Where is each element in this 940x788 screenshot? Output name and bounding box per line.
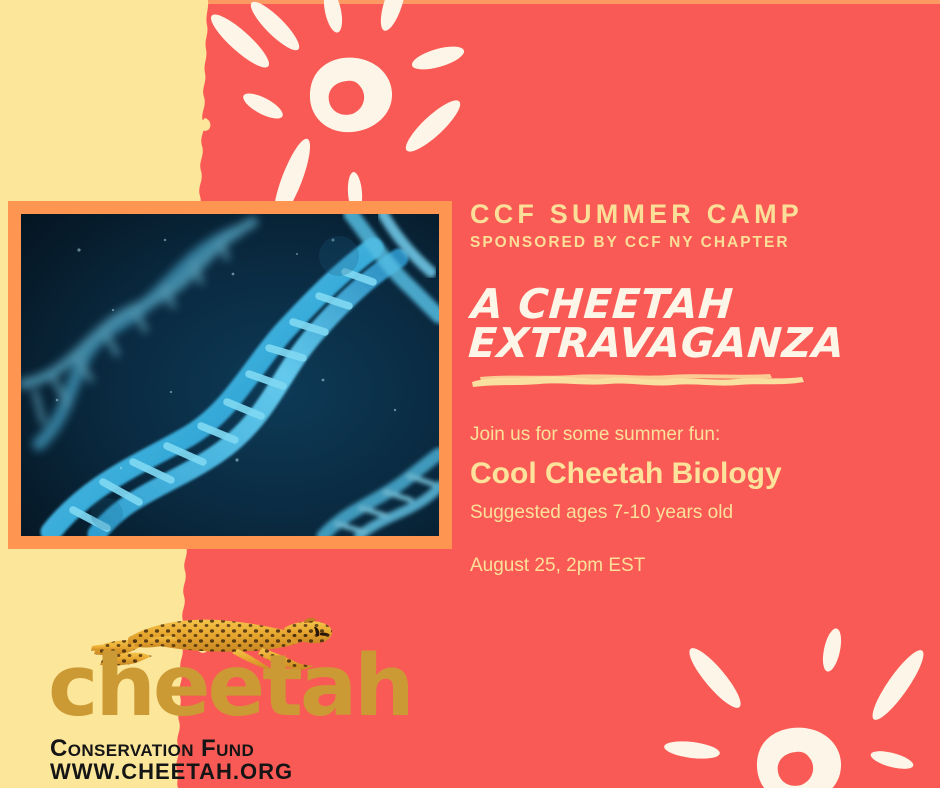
lead-text: Join us for some summer fun:	[470, 423, 910, 447]
page-title: A CHEETAH EXTRAVAGANZA	[467, 285, 912, 362]
eyebrow-title: CCF SUMMER CAMP	[470, 200, 910, 229]
headline-line-2: EXTRAVAGANZA	[467, 324, 910, 363]
poster-canvas: CCF SUMMER CAMP SPONSORED BY CCF NY CHAP…	[0, 0, 940, 788]
event-datetime: August 25, 2pm EST	[470, 554, 910, 578]
logo-url: WWW.CHEETAH.ORG	[50, 760, 293, 783]
feature-title: Cool Cheetah Biology	[470, 456, 910, 492]
suggested-ages: Suggested ages 7-10 years old	[470, 501, 910, 525]
sunburst-bottom-icon	[640, 600, 940, 788]
logo-wordmark: cheetah	[48, 644, 412, 729]
eyebrow-subtitle: SPONSORED BY CCF NY CHAPTER	[470, 234, 910, 251]
dna-photo	[21, 214, 439, 536]
logo-subtitle: Conservation Fund	[50, 736, 254, 761]
brush-underline-icon	[470, 371, 805, 389]
ccf-logo: cheetah Conservation Fund WWW.CHEETAH.OR…	[38, 608, 338, 784]
photo-frame	[8, 201, 452, 549]
copy-column: CCF SUMMER CAMP SPONSORED BY CCF NY CHAP…	[470, 200, 910, 578]
